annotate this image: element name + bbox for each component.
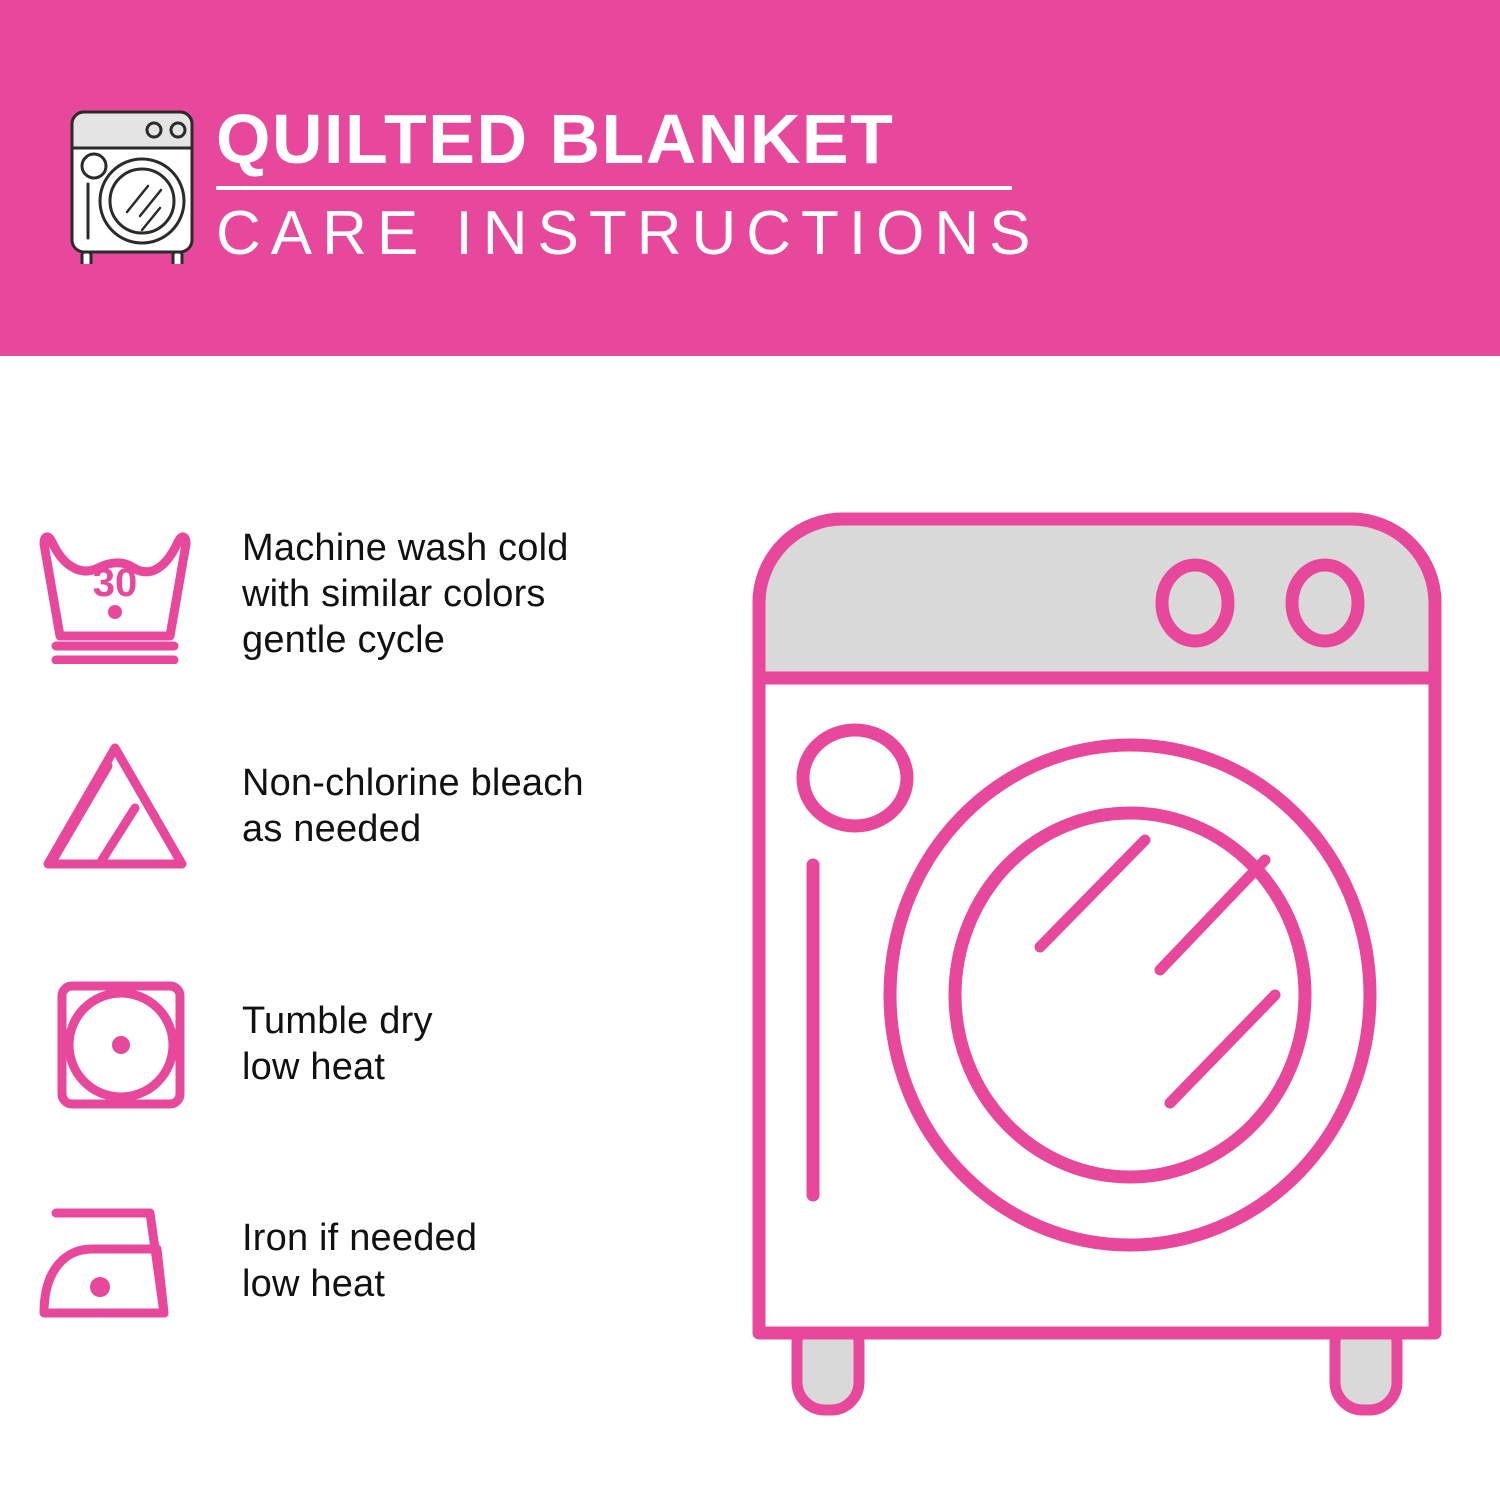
care-text-line: Tumble dry	[242, 998, 433, 1044]
care-text-line: Iron if needed	[242, 1215, 477, 1261]
care-text-line: with similar colors	[242, 571, 569, 617]
control-panel	[759, 519, 1435, 678]
care-text-line: low heat	[242, 1261, 477, 1307]
care-item-bleach: Non-chlorine bleach as needed	[0, 726, 740, 886]
care-instructions-list: 30 Machine wash cold with similar colors…	[0, 356, 740, 1500]
wash-temp-label: 30	[93, 561, 138, 605]
care-item-iron: Iron if needed low heat	[0, 1186, 740, 1336]
care-item-text: Iron if needed low heat	[230, 1215, 477, 1307]
care-item-tumble-dry: Tumble dry low heat	[0, 964, 740, 1124]
header-banner: QUILTED BLANKET CARE INSTRUCTIONS	[0, 0, 1500, 356]
tumble-dry-low-icon	[0, 964, 230, 1124]
wash-tub-30-icon: 30	[0, 506, 230, 681]
care-item-text: Tumble dry low heat	[230, 998, 433, 1090]
care-item-text: Machine wash cold with similar colors ge…	[230, 525, 569, 663]
bleach-triangle-icon	[0, 726, 230, 886]
washing-machine-icon	[62, 104, 202, 264]
page-subtitle: CARE INSTRUCTIONS	[216, 198, 1016, 270]
care-item-text: Non-chlorine bleach as needed	[230, 760, 584, 852]
care-item-machine-wash: 30 Machine wash cold with similar colors…	[0, 506, 740, 681]
care-instructions-infographic: QUILTED BLANKET CARE INSTRUCTIONS 30	[0, 0, 1500, 1500]
header-text-block: QUILTED BLANKET CARE INSTRUCTIONS	[216, 100, 1016, 270]
iron-low-heat-icon	[0, 1186, 230, 1336]
care-text-line: gentle cycle	[242, 617, 569, 663]
care-text-line: low heat	[242, 1044, 433, 1090]
care-text-line: as needed	[242, 806, 584, 852]
page-title: QUILTED BLANKET	[216, 100, 1016, 178]
care-text-line: Machine wash cold	[242, 525, 569, 571]
title-divider	[216, 186, 1012, 190]
care-text-line: Non-chlorine bleach	[242, 760, 584, 806]
washing-machine-illustration	[735, 495, 1465, 1435]
